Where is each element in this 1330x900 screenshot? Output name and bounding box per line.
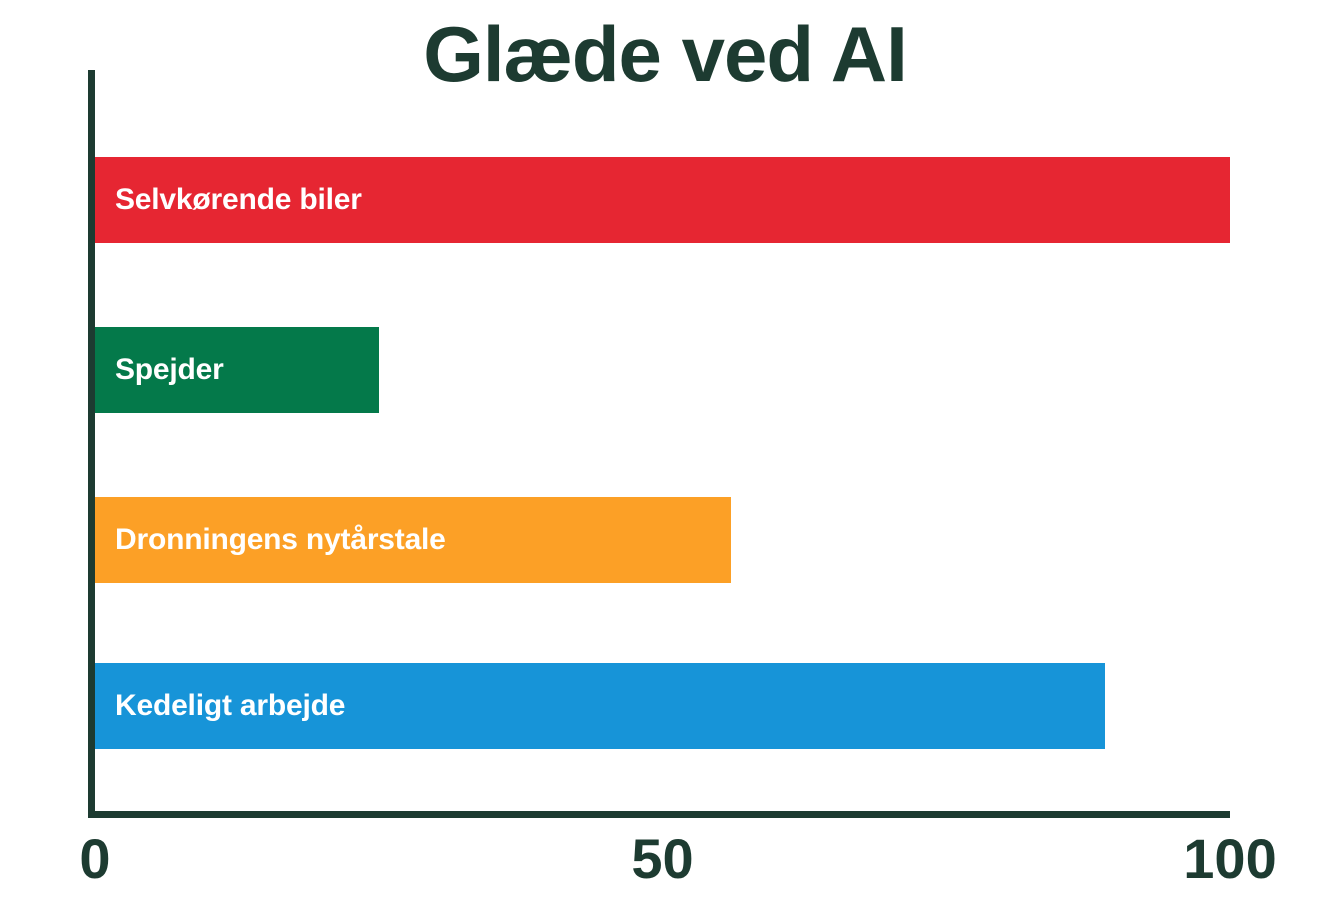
x-axis-tick-labels: 050100 xyxy=(0,826,1330,900)
bar-label: Selvkørende biler xyxy=(95,183,362,217)
bar-row: Kedeligt arbejde xyxy=(95,663,1105,749)
bar-2[interactable]: Spejder xyxy=(95,327,379,413)
bar-3[interactable]: Dronningens nytårstale xyxy=(95,497,731,583)
x-tick-label-50: 50 xyxy=(631,826,693,891)
bar-chart-figure: Glæde ved AI Selvkørende bilerSpejderDro… xyxy=(0,0,1330,900)
bar-row: Selvkørende biler xyxy=(95,157,1230,243)
bar-row: Dronningens nytårstale xyxy=(95,497,731,583)
x-tick-label-100: 100 xyxy=(1183,826,1276,891)
y-axis-line xyxy=(88,70,95,818)
plot-area: Selvkørende bilerSpejderDronningens nytå… xyxy=(88,70,1230,818)
bar-label: Dronningens nytårstale xyxy=(95,523,446,557)
bar-4[interactable]: Kedeligt arbejde xyxy=(95,663,1105,749)
bars-layer: Selvkørende bilerSpejderDronningens nytå… xyxy=(95,70,1230,818)
bar-1[interactable]: Selvkørende biler xyxy=(95,157,1230,243)
bar-row: Spejder xyxy=(95,327,379,413)
x-tick-label-0: 0 xyxy=(79,826,110,891)
bar-label: Kedeligt arbejde xyxy=(95,689,345,723)
bar-label: Spejder xyxy=(95,353,224,387)
